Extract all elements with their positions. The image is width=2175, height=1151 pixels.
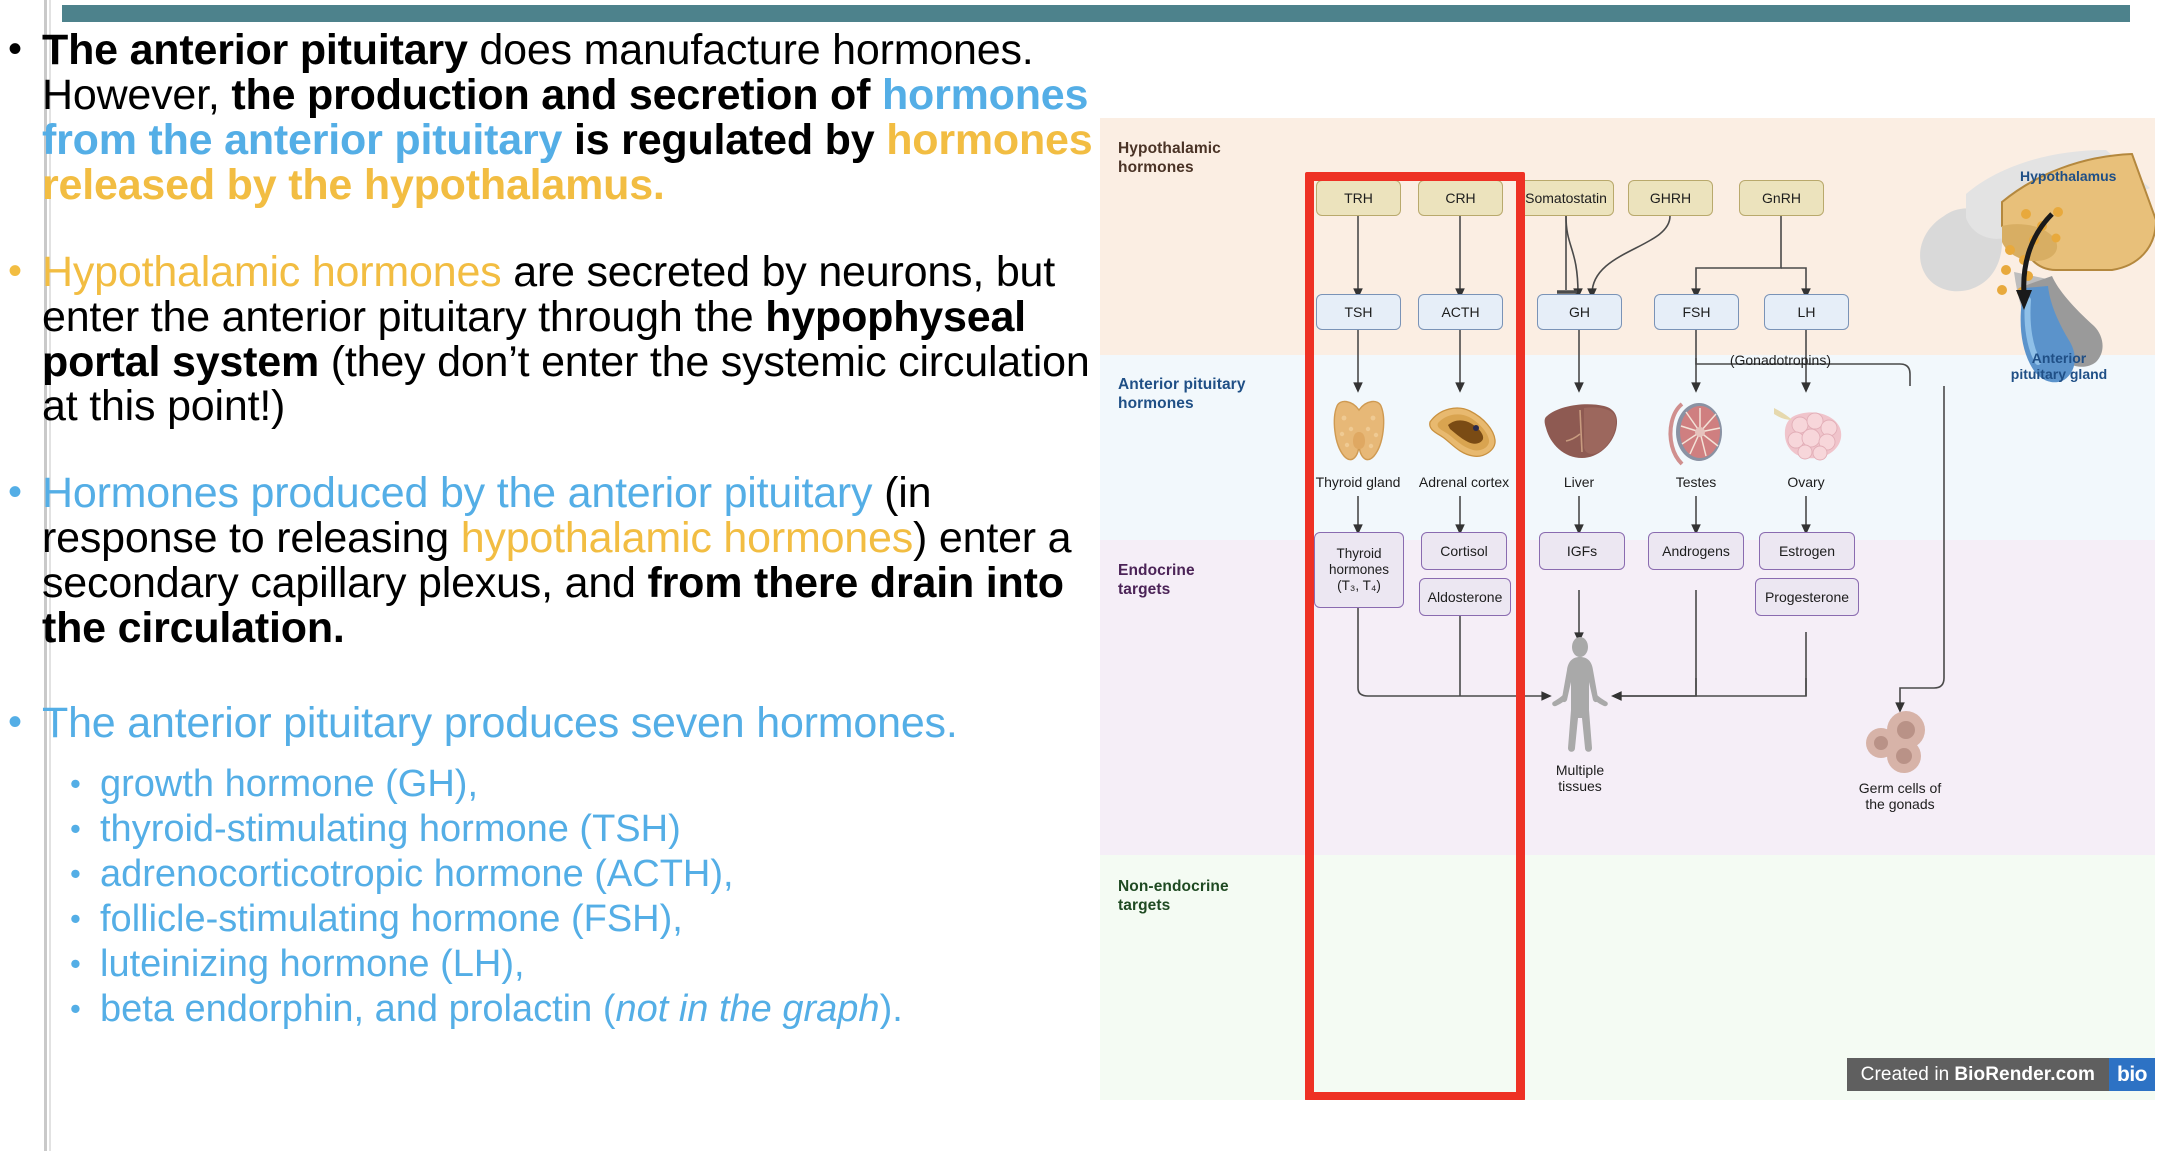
anatomy-label-anterior-pituitary: Anterior pituitary gland — [1984, 350, 2134, 382]
list-item: • growth hormone (GH), — [70, 762, 1098, 807]
biorender-attribution: Created in BioRender.com bio — [1847, 1058, 2155, 1091]
node-ghrh[interactable]: GHRH — [1628, 180, 1713, 216]
spacer — [8, 667, 1098, 701]
spacer — [8, 224, 1098, 250]
node-trh[interactable]: TRH — [1316, 180, 1401, 216]
hormone-name: luteinizing hormone (LH), — [100, 942, 1098, 987]
node-somatostatin[interactable]: Somatostatin — [1518, 180, 1614, 216]
bullet-text-2: Hypothalamic hormones are secreted by ne… — [42, 250, 1098, 430]
bullet-2-seg-1: Hypothalamic hormones — [42, 248, 501, 296]
node-acth[interactable]: ACTH — [1418, 294, 1503, 330]
bullet-marker: • — [70, 807, 100, 850]
bullet-marker: • — [70, 852, 100, 895]
list-item: • adrenocorticotropic hormone (ACTH), — [70, 852, 1098, 897]
node-thyroid-hormones[interactable]: Thyroid hormones (T₃, T₄) — [1314, 532, 1404, 608]
bullet-item-4: • The anterior pituitary produces seven … — [8, 701, 1098, 746]
hormone-name: adrenocorticotropic hormone (ACTH), — [100, 852, 1098, 897]
bullet-marker: • — [70, 942, 100, 985]
slide-body-text: • The anterior pituitary does manufactur… — [8, 28, 1098, 1148]
hormone-name: thyroid-stimulating hormone (TSH) — [100, 807, 1098, 852]
anatomy-label-hypothalamus: Hypothalamus — [2020, 168, 2155, 184]
hormone-name: follicle-stimulating hormone (FSH), — [100, 897, 1098, 942]
gland-label-testes: Testes — [1649, 474, 1743, 490]
node-estrogen[interactable]: Estrogen — [1759, 532, 1855, 570]
liver-icon — [1544, 400, 1620, 466]
germ-cells-icon — [1864, 710, 1936, 776]
endocrine-axis-diagram: Hypothalamic hormones Anterior pituitary… — [1100, 118, 2155, 1100]
node-gh[interactable]: GH — [1537, 294, 1622, 330]
bullet-1-seg-5: is regulated by — [562, 116, 886, 164]
node-igfs[interactable]: IGFs — [1539, 532, 1625, 570]
node-crh[interactable]: CRH — [1418, 180, 1503, 216]
gland-label-adrenal: Adrenal cortex — [1400, 474, 1528, 490]
node-tsh[interactable]: TSH — [1316, 294, 1401, 330]
human-body-icon — [1552, 636, 1608, 756]
biorender-brand: BioRender.com — [1954, 1064, 2095, 1086]
bullet-text-1: The anterior pituitary does manufacture … — [42, 28, 1098, 208]
gland-label-liver: Liver — [1532, 474, 1626, 490]
bullet-text-4: The anterior pituitary produces seven ho… — [42, 701, 1098, 746]
bullet-3-seg-3: hypothalamic hormones — [461, 514, 913, 562]
bullet-item-3: • Hormones produced by the anterior pitu… — [8, 471, 1098, 651]
gonadotropins-note: (Gonadotropins) — [1656, 352, 1831, 368]
node-aldosterone[interactable]: Aldosterone — [1419, 578, 1511, 616]
adrenal-cortex-icon — [1426, 404, 1498, 462]
spacer — [8, 445, 1098, 471]
bullet-marker: • — [8, 28, 42, 70]
list-item: • luteinizing hormone (LH), — [70, 942, 1098, 987]
bullet-marker: • — [8, 701, 42, 743]
bullet-1-seg-1: The anterior pituitary — [42, 26, 468, 74]
node-progesterone[interactable]: Progesterone — [1755, 578, 1859, 616]
hormone-name: growth hormone (GH), — [100, 762, 1098, 807]
node-fsh[interactable]: FSH — [1654, 294, 1739, 330]
bullet-item-1: • The anterior pituitary does manufactur… — [8, 28, 1098, 208]
node-gnrh[interactable]: GnRH — [1739, 180, 1824, 216]
bullet-3-seg-1: Hormones produced by the anterior pituit… — [42, 469, 872, 517]
target-label-multiple-tissues: Multiple tissues — [1530, 762, 1630, 794]
list-item: • follicle-stimulating hormone (FSH), — [70, 897, 1098, 942]
biorender-prefix: Created in — [1861, 1064, 1950, 1086]
bullet-marker: • — [8, 471, 42, 513]
testes-icon — [1666, 396, 1726, 468]
bullet-marker: • — [70, 762, 100, 805]
hormone-name-post: ). — [880, 988, 903, 1030]
thyroid-gland-icon — [1328, 396, 1390, 466]
bullet-marker: • — [70, 897, 100, 940]
hormone-name-note: not in the graph — [615, 988, 879, 1030]
hormone-name-pre: beta endorphin, and prolactin ( — [100, 988, 615, 1030]
list-item: • thyroid-stimulating hormone (TSH) — [70, 807, 1098, 852]
node-androgens[interactable]: Androgens — [1648, 532, 1744, 570]
hormone-sub-list: • growth hormone (GH), • thyroid-stimula… — [70, 762, 1098, 1032]
ovary-icon — [1772, 406, 1844, 462]
hormone-name: beta endorphin, and prolactin (not in th… — [100, 987, 1098, 1032]
biorender-logo-icon: bio — [2109, 1058, 2155, 1091]
biorender-text: Created in BioRender.com — [1847, 1058, 2109, 1091]
slide-accent-bar — [62, 5, 2130, 22]
gland-label-ovary: Ovary — [1759, 474, 1853, 490]
target-label-germ-cells: Germ cells of the gonads — [1842, 780, 1958, 812]
node-lh[interactable]: LH — [1764, 294, 1849, 330]
bullet-item-2: • Hypothalamic hormones are secreted by … — [8, 250, 1098, 430]
list-item: • beta endorphin, and prolactin (not in … — [70, 987, 1098, 1032]
bullet-marker: • — [8, 250, 42, 292]
node-cortisol[interactable]: Cortisol — [1421, 532, 1507, 570]
bullet-text-3: Hormones produced by the anterior pituit… — [42, 471, 1098, 651]
bullet-1-seg-3: the production and secretion of — [231, 71, 882, 119]
bullet-marker: • — [70, 987, 100, 1030]
